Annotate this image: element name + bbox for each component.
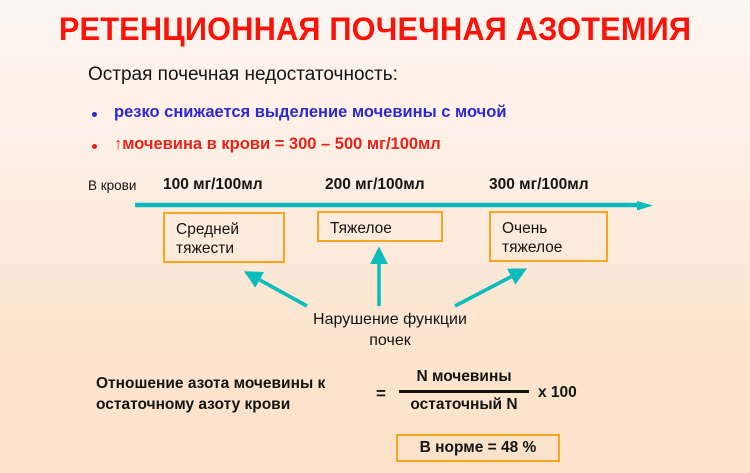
bullet-label-2: ↑мочевина в крови = 300 – 500 мг/100мл bbox=[114, 135, 441, 154]
bullet-label-1: резко снижается выделение мочевины с моч… bbox=[114, 103, 507, 122]
dysfunction-label: Нарушение функции почек bbox=[290, 309, 490, 351]
scale-tick-3: 300 мг/100мл bbox=[489, 176, 589, 194]
dysfunction-label-line1: Нарушение функции bbox=[290, 309, 490, 330]
dysfunction-label-line2: почек bbox=[290, 330, 490, 351]
severity-box-moderate: Средней тяжести bbox=[163, 212, 285, 263]
severity-box-very-severe: Очень тяжелое bbox=[489, 211, 608, 262]
severity-box-severe-line1: Тяжелое bbox=[330, 219, 432, 238]
severity-box-very-severe-line1: Очень bbox=[502, 219, 597, 238]
bullet-item-1: резко снижается выделение мочевины с моч… bbox=[92, 103, 507, 122]
norm-value-label: В норме = 48 % bbox=[420, 439, 537, 457]
arrow-to-very-severe-icon bbox=[455, 271, 522, 306]
fraction-denominator: остаточный N bbox=[399, 396, 529, 414]
ratio-description-line1: Отношение азота мочевины к bbox=[96, 373, 325, 394]
fraction: N мочевины остаточный N bbox=[399, 368, 529, 414]
severity-box-very-severe-line2: тяжелое bbox=[502, 238, 597, 257]
lead-statement: Острая почечная недостаточность: bbox=[88, 64, 398, 86]
ratio-description: Отношение азота мочевины к остаточному а… bbox=[96, 373, 325, 415]
slide-canvas: РЕТЕНЦИОННАЯ ПОЧЕЧНАЯ АЗОТЕМИЯ Острая по… bbox=[0, 0, 750, 473]
bullet-dot-icon bbox=[92, 112, 97, 117]
severity-box-moderate-line2: тяжести bbox=[176, 239, 274, 258]
formula-multiplier: x 100 bbox=[538, 384, 577, 402]
equals-sign: = bbox=[376, 384, 386, 404]
bullet-dot-icon bbox=[92, 144, 97, 149]
slide-title: РЕТЕНЦИОННАЯ ПОЧЕЧНАЯ АЗОТЕМИЯ bbox=[15, 11, 735, 48]
fraction-bar bbox=[399, 390, 529, 393]
scale-tick-2: 200 мг/100мл bbox=[325, 176, 425, 194]
ratio-description-line2: остаточному азоту крови bbox=[96, 394, 325, 415]
bullet-item-2: ↑мочевина в крови = 300 – 500 мг/100мл bbox=[92, 135, 441, 154]
norm-value-box: В норме = 48 % bbox=[396, 434, 560, 462]
scale-axis-label: В крови bbox=[88, 178, 136, 193]
scale-tick-1: 100 мг/100мл bbox=[163, 176, 263, 194]
severity-box-moderate-line1: Средней bbox=[176, 220, 274, 239]
severity-box-severe: Тяжелое bbox=[317, 211, 443, 242]
arrow-to-moderate-icon bbox=[249, 274, 307, 306]
fraction-numerator: N мочевины bbox=[399, 368, 529, 386]
